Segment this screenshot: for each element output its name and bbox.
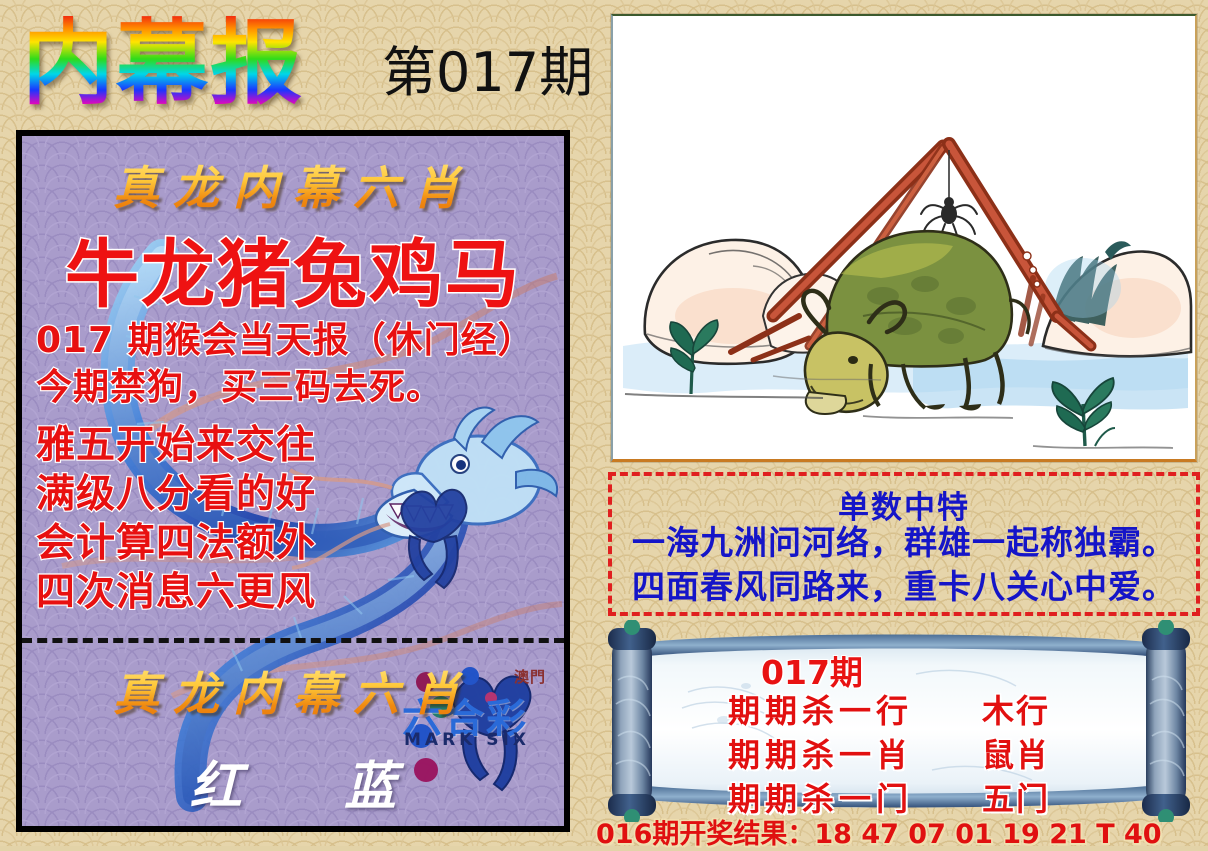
note-line-1: 017 期猴会当天报（休门经）: [36, 321, 556, 361]
scroll-row-2-label: 期期杀一肖: [728, 730, 958, 776]
previous-draw-result: 016期开奖结果：18 47 07 01 19 21 Т 40: [596, 812, 1196, 851]
issue-number: 第017期: [382, 44, 593, 102]
scroll-row-gate: 期期杀一门 五门: [728, 774, 1148, 816]
color-hint-blue: 蓝: [295, 744, 445, 819]
panel-verse-line-1: 雅五开始来交往: [36, 424, 556, 468]
verse-box-line-1: 一海九洲问河络，群雄一起称独霸。: [612, 524, 1196, 562]
scroll-row-zodiac: 期期杀一肖 鼠肖: [728, 730, 1148, 772]
illustration-frame: [611, 14, 1197, 462]
zodiac-headline: 牛龙猪兔鸡马: [22, 236, 564, 314]
scroll-row-1-value: 木行: [982, 686, 1112, 732]
panel-verse-line-3: 会计算四法额外: [36, 522, 556, 566]
scroll-row-2-value: 鼠肖: [982, 730, 1112, 776]
ink-wash-bull-illustration: [613, 16, 1195, 459]
page-title: 内幕报: [22, 14, 304, 114]
color-hint-red: 红: [141, 744, 291, 819]
panel-verse-line-2: 满级八分看的好: [36, 473, 556, 517]
verse-box-line-2: 四面春风同路来，重卡八关心中爱。: [612, 568, 1196, 606]
panel-title-top: 真龙内幕六肖: [22, 152, 564, 218]
verse-box-title: 单数中特: [612, 482, 1196, 527]
poster-panel: 真龙内幕六肖 牛龙猪兔鸡马 017 期猴会当天报（休门经） 今期禁狗，买三码去死…: [16, 130, 570, 832]
scroll-banner: 017期 期期杀一行 木行 期期杀一肖 鼠肖 期期杀一门 五门: [596, 620, 1202, 822]
note-line-2: 今期禁狗，买三码去死。: [36, 368, 556, 408]
scroll-row-element: 期期杀一行 木行: [728, 686, 1148, 728]
scroll-row-1-label: 期期杀一行: [728, 686, 958, 732]
panel-verse-line-4: 四次消息六更风: [36, 571, 556, 615]
color-hint-row: 红 蓝: [22, 744, 564, 819]
panel-title-bottom: 真龙内幕六肖: [22, 658, 564, 724]
verse-box: 单数中特 一海九洲问河络，群雄一起称独霸。 四面春风同路来，重卡八关心中爱。: [608, 472, 1200, 616]
panel-divider: [22, 638, 564, 643]
page-header: 内幕报 第017期: [0, 0, 600, 128]
